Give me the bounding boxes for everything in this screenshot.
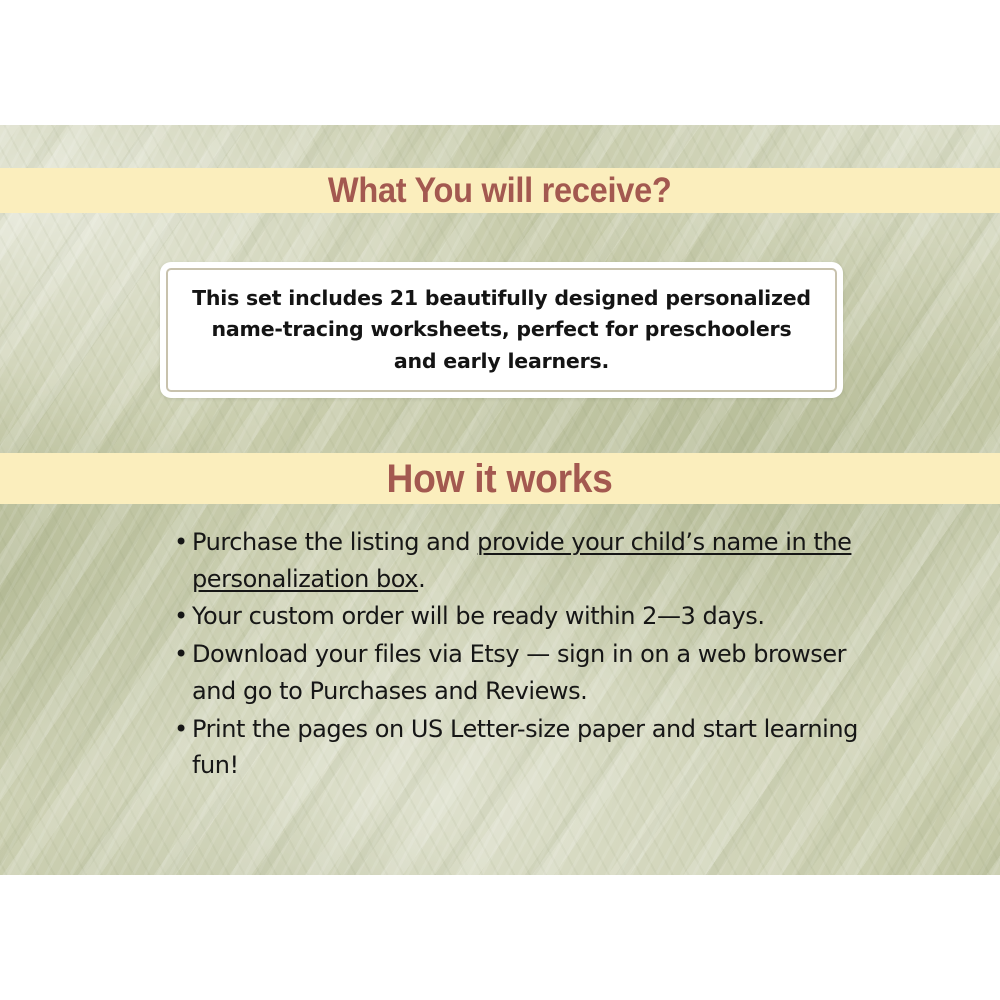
step-tail: . xyxy=(418,565,425,593)
step-lead: Purchase the listing and xyxy=(192,528,477,556)
info-card-text: This set includes 21 beautifully designe… xyxy=(190,283,813,376)
heading-how-it-works: How it works xyxy=(387,459,613,499)
list-item: • Download your files via Etsy — sign in… xyxy=(172,636,872,709)
bullet-icon: • xyxy=(174,524,188,561)
list-item: • Your custom order will be ready within… xyxy=(172,598,872,635)
bullet-icon: • xyxy=(174,598,188,635)
bullet-icon: • xyxy=(174,636,188,673)
step-text: Purchase the listing and provide your ch… xyxy=(192,528,851,593)
heading-band-how-it-works: How it works xyxy=(0,453,1000,504)
step-text: Your custom order will be ready within 2… xyxy=(192,602,765,630)
heading-band-receive: What You will receive? xyxy=(0,168,1000,213)
step-text: Print the pages on US Letter-size paper … xyxy=(192,715,858,780)
step-text: Download your files via Etsy — sign in o… xyxy=(192,640,846,705)
list-item: • Purchase the listing and provide your … xyxy=(172,524,872,597)
how-it-works-list: • Purchase the listing and provide your … xyxy=(172,524,872,785)
list-item: • Print the pages on US Letter-size pape… xyxy=(172,711,872,784)
slide-canvas: What You will receive? This set includes… xyxy=(0,0,1000,1000)
info-card: This set includes 21 beautifully designe… xyxy=(160,262,843,398)
info-card-inner-border: This set includes 21 beautifully designe… xyxy=(166,268,837,392)
heading-receive: What You will receive? xyxy=(328,173,672,208)
bullet-icon: • xyxy=(174,711,188,748)
